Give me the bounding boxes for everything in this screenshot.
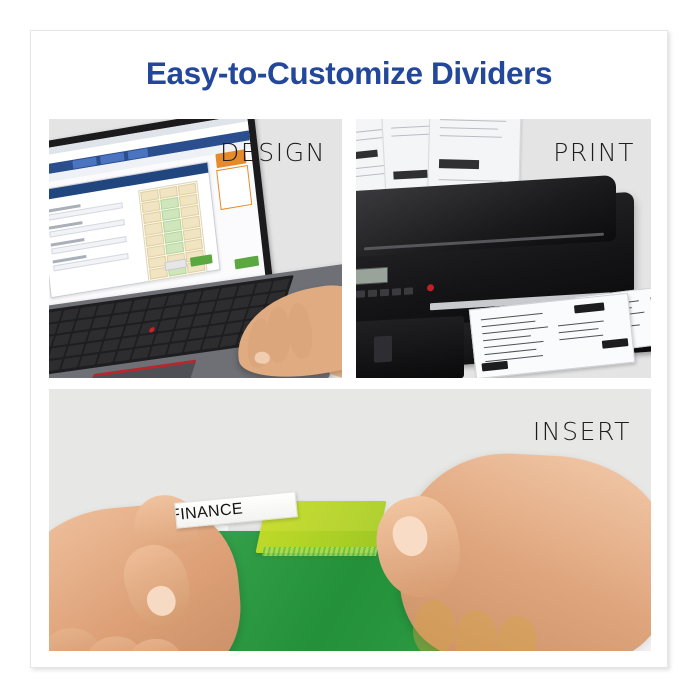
design-dialog	[49, 161, 220, 298]
key	[49, 323, 58, 336]
key	[184, 339, 203, 352]
key	[91, 316, 110, 329]
key	[228, 309, 247, 322]
preview-frame	[216, 165, 252, 210]
key	[206, 324, 225, 337]
key	[219, 334, 238, 347]
key	[49, 359, 63, 372]
key	[49, 311, 62, 324]
key	[49, 346, 67, 359]
key	[201, 288, 220, 301]
panel-insert: FINANCE INSERT	[49, 389, 651, 651]
infographic-card: Easy-to-Customize Dividers	[30, 30, 668, 668]
key	[118, 336, 137, 349]
key	[167, 342, 186, 355]
finger-silhouette	[453, 609, 498, 651]
key	[114, 349, 133, 362]
form-input	[51, 236, 127, 255]
printer-base	[356, 316, 464, 378]
panel-design: DESIGN	[49, 119, 342, 378]
panel-label-insert: INSERT	[533, 417, 631, 446]
key	[122, 324, 141, 337]
label-strip-text: FINANCE	[174, 500, 244, 525]
key	[236, 284, 255, 297]
power-indicator-icon	[427, 284, 434, 291]
key	[105, 326, 124, 339]
thumb	[116, 537, 199, 632]
fingernail	[254, 351, 270, 365]
fingernail	[142, 581, 181, 620]
key	[131, 298, 150, 311]
key	[202, 337, 221, 350]
tab-perforation	[262, 547, 378, 556]
finger-silhouette	[495, 615, 538, 651]
key	[214, 299, 233, 312]
key	[157, 319, 176, 332]
key	[132, 347, 151, 360]
key	[96, 303, 115, 316]
key	[74, 318, 93, 331]
finger-silhouette	[412, 599, 457, 651]
key	[149, 344, 168, 357]
printer-badge	[374, 336, 392, 363]
key	[79, 354, 98, 367]
sidebar-action-button	[234, 256, 259, 270]
key	[97, 352, 116, 365]
key	[193, 314, 212, 327]
key	[271, 279, 290, 292]
finger	[267, 307, 290, 363]
key	[87, 329, 106, 342]
dialog-form	[49, 197, 129, 277]
key	[249, 294, 268, 307]
page-title: Easy-to-Customize Dividers	[31, 55, 667, 92]
form-input	[49, 202, 123, 221]
panel-label-print: PRINT	[553, 138, 635, 167]
panel-label-design: DESIGN	[220, 138, 326, 167]
control-panel-icon	[356, 264, 440, 303]
key	[136, 334, 155, 347]
key	[166, 293, 185, 306]
key	[56, 321, 75, 334]
key	[144, 309, 163, 322]
key	[223, 322, 242, 335]
form-input	[53, 253, 129, 272]
printer-display	[356, 267, 388, 285]
key	[162, 306, 181, 319]
form-input	[49, 219, 125, 238]
key	[78, 306, 97, 319]
panel-print: PRINT	[356, 119, 651, 378]
right-hand-icon	[396, 448, 651, 651]
key	[127, 311, 146, 324]
key	[52, 334, 71, 347]
finger	[286, 302, 315, 360]
fingernail	[388, 512, 432, 560]
key	[197, 301, 216, 314]
key	[253, 281, 272, 294]
key	[113, 301, 132, 314]
lid-edge	[364, 233, 604, 251]
key	[153, 332, 172, 345]
key	[83, 341, 102, 354]
key	[218, 286, 237, 299]
key	[60, 308, 79, 321]
key	[148, 296, 167, 309]
key	[171, 329, 190, 342]
key	[66, 344, 85, 357]
key	[175, 316, 194, 329]
key	[210, 311, 229, 324]
key	[109, 314, 128, 327]
key	[101, 339, 120, 352]
key	[232, 296, 251, 309]
key	[183, 291, 202, 304]
key	[70, 331, 89, 344]
key	[188, 327, 207, 340]
key	[62, 357, 81, 370]
key	[179, 304, 198, 317]
